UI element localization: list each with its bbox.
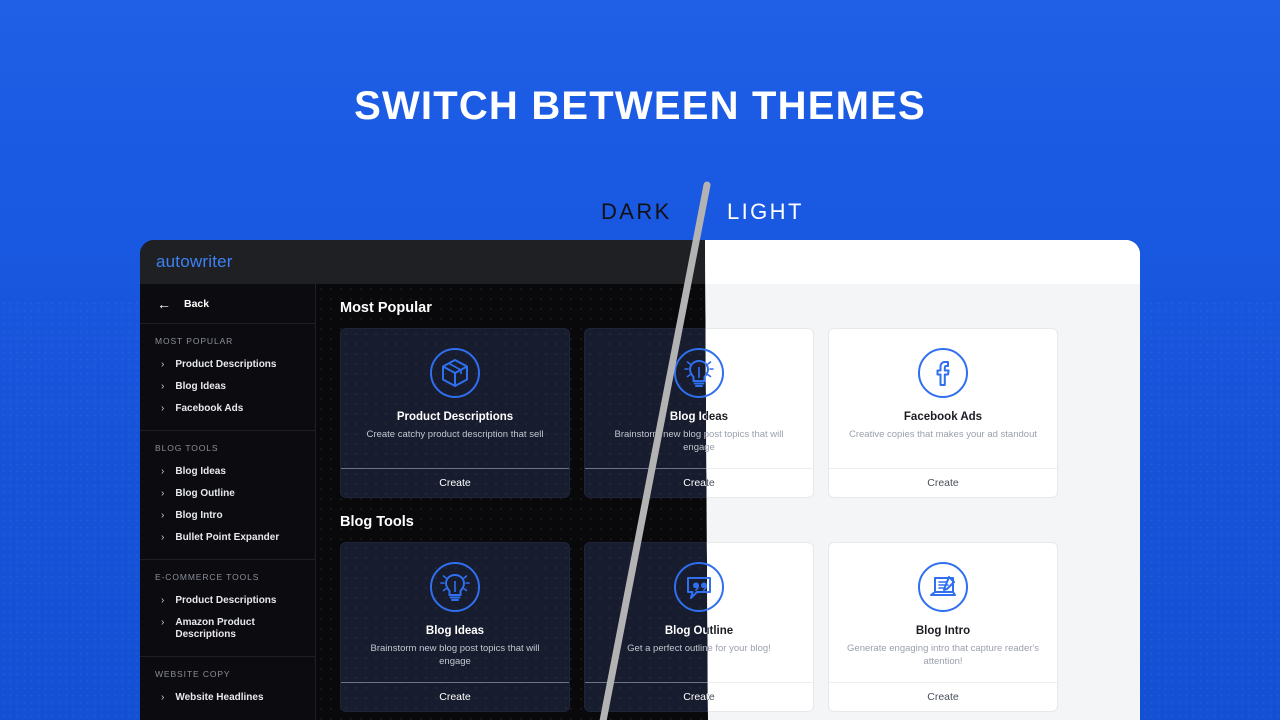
- sidebar-dark: ← Back MOST POPULAR › Product Descriptio…: [140, 284, 316, 720]
- card-title: Facebook Ads: [843, 411, 1043, 423]
- card-description: Creative copies that makes your ad stand…: [843, 428, 1043, 441]
- sidebar-item-label: Product Descriptions: [175, 595, 276, 607]
- sidebar-item-label: Bullet Point Expander: [175, 532, 279, 544]
- sidebar-item-blog-ideas[interactable]: › Blog Ideas: [140, 376, 315, 398]
- tool-card-facebook-ads-light[interactable]: Facebook Ads Creative copies that makes …: [828, 328, 1058, 498]
- page-title: SWITCH BETWEEN THEMES: [0, 84, 1280, 129]
- create-button[interactable]: Create: [829, 682, 1057, 711]
- card-description: Generate engaging intro that capture rea…: [843, 642, 1043, 668]
- chevron-right-icon: ›: [161, 617, 164, 629]
- chevron-right-icon: ›: [161, 381, 164, 393]
- app-window: autowriter ← Back MOST POPULAR › Product…: [140, 240, 1140, 720]
- sidebar-group-title: MOST POPULAR: [140, 336, 315, 354]
- sidebar-item-label: Blog Outline: [175, 488, 234, 500]
- sidebar-item-label: Blog Ideas: [175, 466, 226, 478]
- sidebar-group-title: E-COMMERCE TOOLS: [140, 572, 315, 590]
- chevron-right-icon: ›: [161, 488, 164, 500]
- card-description: Create catchy product description that s…: [355, 428, 555, 441]
- sidebar-item-label: Blog Intro: [175, 510, 222, 522]
- sidebar-item-amazon-product-descriptions[interactable]: › Amazon Product Descriptions: [140, 612, 315, 646]
- card-title: Blog Ideas: [355, 625, 555, 637]
- app-logo: autowriter: [156, 252, 233, 272]
- sidebar-item-blog-outline[interactable]: › Blog Outline: [140, 483, 315, 505]
- card-description: Brainstorm new blog post topics that wil…: [355, 642, 555, 668]
- arrow-left-icon: ←: [157, 297, 171, 311]
- create-button[interactable]: Create: [341, 468, 569, 497]
- sidebar-group: E-COMMERCE TOOLS › Product Descriptions …: [140, 560, 315, 657]
- tool-card-product-descriptions[interactable]: Product Descriptions Create catchy produ…: [340, 328, 570, 498]
- chevron-right-icon: ›: [161, 510, 164, 522]
- sidebar-item-label: Website Headlines: [175, 692, 263, 704]
- package-box-icon: [429, 347, 481, 399]
- tool-card-blog-intro-light[interactable]: Blog Intro Generate engaging intro that …: [828, 542, 1058, 712]
- laptop-pencil-icon: [917, 561, 969, 613]
- create-button[interactable]: Create: [829, 468, 1057, 497]
- sidebar-group: BLOG TOOLS › Blog Ideas › Blog Outline ›…: [140, 431, 315, 560]
- sidebar-item-label: Facebook Ads: [175, 403, 243, 415]
- sidebar-group-title: BLOG TOOLS: [140, 443, 315, 461]
- sidebar-item-website-headlines[interactable]: › Website Headlines: [140, 687, 315, 709]
- chevron-right-icon: ›: [161, 466, 164, 478]
- sidebar-group: WEBSITE COPY › Website Headlines: [140, 657, 315, 719]
- sidebar-item-label: Blog Ideas: [175, 381, 226, 393]
- sidebar-item-product-descriptions[interactable]: › Product Descriptions: [140, 354, 315, 376]
- sidebar-item-blog-ideas[interactable]: › Blog Ideas: [140, 461, 315, 483]
- chevron-right-icon: ›: [161, 532, 164, 544]
- sidebar-item-facebook-ads[interactable]: › Facebook Ads: [140, 398, 315, 420]
- chevron-right-icon: ›: [161, 692, 164, 704]
- sidebar-group-title: WEBSITE COPY: [140, 669, 315, 687]
- sidebar-back-label: Back: [184, 298, 209, 310]
- sidebar-back-button[interactable]: ← Back: [140, 284, 315, 324]
- theme-label-dark: DARK: [601, 199, 672, 225]
- sidebar-group: MOST POPULAR › Product Descriptions › Bl…: [140, 324, 315, 431]
- sidebar-item-product-descriptions[interactable]: › Product Descriptions: [140, 590, 315, 612]
- sidebar-item-label: Product Descriptions: [175, 359, 276, 371]
- chevron-right-icon: ›: [161, 403, 164, 415]
- sidebar-item-bullet-point-expander[interactable]: › Bullet Point Expander: [140, 527, 315, 549]
- tool-card-blog-ideas[interactable]: Blog Ideas Brainstorm new blog post topi…: [340, 542, 570, 712]
- facebook-icon: [917, 347, 969, 399]
- chevron-right-icon: ›: [161, 595, 164, 607]
- theme-label-light: LIGHT: [727, 199, 804, 225]
- sidebar-item-blog-intro[interactable]: › Blog Intro: [140, 505, 315, 527]
- create-button[interactable]: Create: [341, 682, 569, 711]
- chevron-right-icon: ›: [161, 359, 164, 371]
- card-title: Blog Intro: [843, 625, 1043, 637]
- lightbulb-icon: [429, 561, 481, 613]
- sidebar-item-label: Amazon Product Descriptions: [175, 617, 267, 641]
- card-title: Product Descriptions: [355, 411, 555, 423]
